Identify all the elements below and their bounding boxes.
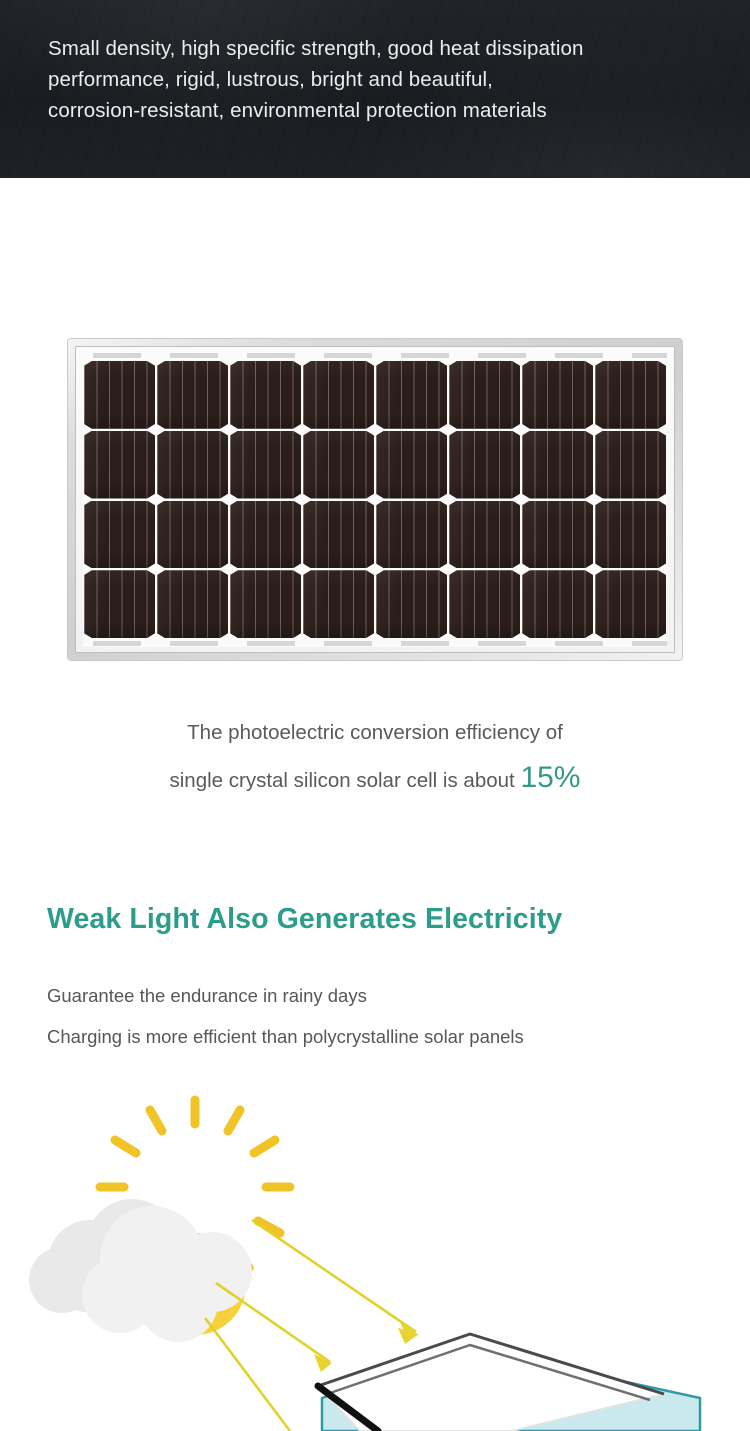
solar-cell bbox=[521, 430, 594, 500]
solar-cell-surface bbox=[376, 501, 447, 569]
solar-cell bbox=[302, 360, 375, 430]
solar-cell bbox=[448, 360, 521, 430]
solar-cell-surface bbox=[595, 431, 666, 499]
hero-line-2: performance, rigid, lustrous, bright and… bbox=[48, 64, 720, 95]
solar-cell-surface bbox=[595, 361, 666, 429]
solar-cell-surface bbox=[303, 431, 374, 499]
solar-cell bbox=[83, 569, 156, 639]
solar-cell-surface bbox=[376, 361, 447, 429]
solar-panel-image bbox=[68, 339, 682, 660]
solar-cell bbox=[594, 569, 667, 639]
solar-cell bbox=[594, 360, 667, 430]
solar-cell-surface bbox=[157, 361, 228, 429]
solar-cell-surface bbox=[84, 501, 155, 569]
solar-cell bbox=[594, 500, 667, 570]
solar-cell-surface bbox=[449, 431, 520, 499]
solar-cell bbox=[375, 360, 448, 430]
solar-cell-surface bbox=[230, 431, 301, 499]
solar-cell-surface bbox=[303, 570, 374, 638]
solar-cell-surface bbox=[230, 501, 301, 569]
weak-light-illustration bbox=[0, 1090, 750, 1431]
section-bullet-1: Guarantee the endurance in rainy days bbox=[47, 985, 367, 1007]
solar-cell bbox=[521, 360, 594, 430]
hero-line-3: corrosion-resistant, environmental prote… bbox=[48, 95, 720, 126]
solar-cell bbox=[83, 430, 156, 500]
solar-cell-surface bbox=[595, 501, 666, 569]
solar-cell bbox=[83, 500, 156, 570]
illustration-svg bbox=[0, 1090, 750, 1431]
solar-cell bbox=[448, 430, 521, 500]
caption-line-2: single crystal silicon solar cell is abo… bbox=[0, 755, 750, 803]
panel-cell-grid bbox=[83, 360, 667, 639]
solar-cell bbox=[156, 569, 229, 639]
section-headline: Weak Light Also Generates Electricity bbox=[47, 903, 562, 936]
solar-cell-surface bbox=[376, 431, 447, 499]
solar-cell-surface bbox=[157, 431, 228, 499]
solar-cell bbox=[448, 569, 521, 639]
efficiency-value: 15% bbox=[520, 761, 580, 794]
solar-cell-surface bbox=[84, 361, 155, 429]
solar-cell-surface bbox=[157, 501, 228, 569]
panel-backsheet bbox=[83, 352, 667, 647]
solar-cell-surface bbox=[449, 501, 520, 569]
solar-cell-surface bbox=[376, 570, 447, 638]
solar-cell bbox=[83, 360, 156, 430]
solar-cell bbox=[156, 360, 229, 430]
solar-cell-surface bbox=[303, 361, 374, 429]
solar-cell-surface bbox=[522, 361, 593, 429]
solar-cell bbox=[302, 430, 375, 500]
solar-cell bbox=[521, 569, 594, 639]
solar-cell bbox=[302, 500, 375, 570]
solar-cell-surface bbox=[522, 570, 593, 638]
solar-cell bbox=[156, 430, 229, 500]
solar-cell-surface bbox=[522, 501, 593, 569]
panel-busbar-ribbons-top bbox=[83, 353, 667, 358]
hero-banner: Small density, high specific strength, g… bbox=[0, 0, 750, 178]
solar-cell bbox=[448, 500, 521, 570]
panel-busbar-ribbons-bottom bbox=[83, 641, 667, 646]
solar-cell bbox=[229, 500, 302, 570]
solar-cell bbox=[375, 500, 448, 570]
solar-cell bbox=[229, 430, 302, 500]
solar-cell bbox=[302, 569, 375, 639]
solar-cell bbox=[521, 500, 594, 570]
solar-cell-surface bbox=[157, 570, 228, 638]
efficiency-caption: The photoelectric conversion efficiency … bbox=[0, 710, 750, 803]
solar-cell bbox=[156, 500, 229, 570]
hero-description: Small density, high specific strength, g… bbox=[48, 33, 720, 126]
solar-cell-surface bbox=[522, 431, 593, 499]
solar-cell bbox=[229, 569, 302, 639]
solar-cell-surface bbox=[303, 501, 374, 569]
section-bullet-2: Charging is more efficient than polycrys… bbox=[47, 1026, 524, 1048]
solar-cell-surface bbox=[84, 570, 155, 638]
solar-cell bbox=[375, 430, 448, 500]
solar-cell-surface bbox=[449, 570, 520, 638]
solar-cell-surface bbox=[230, 570, 301, 638]
solar-cell-surface bbox=[230, 361, 301, 429]
solar-cell-surface bbox=[449, 361, 520, 429]
caption-line-2-text: single crystal silicon solar cell is abo… bbox=[170, 769, 521, 792]
solar-cell-surface bbox=[84, 431, 155, 499]
caption-line-1: The photoelectric conversion efficiency … bbox=[0, 710, 750, 755]
solar-cell-surface bbox=[595, 570, 666, 638]
hero-line-1: Small density, high specific strength, g… bbox=[48, 33, 720, 64]
solar-cell bbox=[594, 430, 667, 500]
solar-cell bbox=[229, 360, 302, 430]
solar-cell bbox=[375, 569, 448, 639]
